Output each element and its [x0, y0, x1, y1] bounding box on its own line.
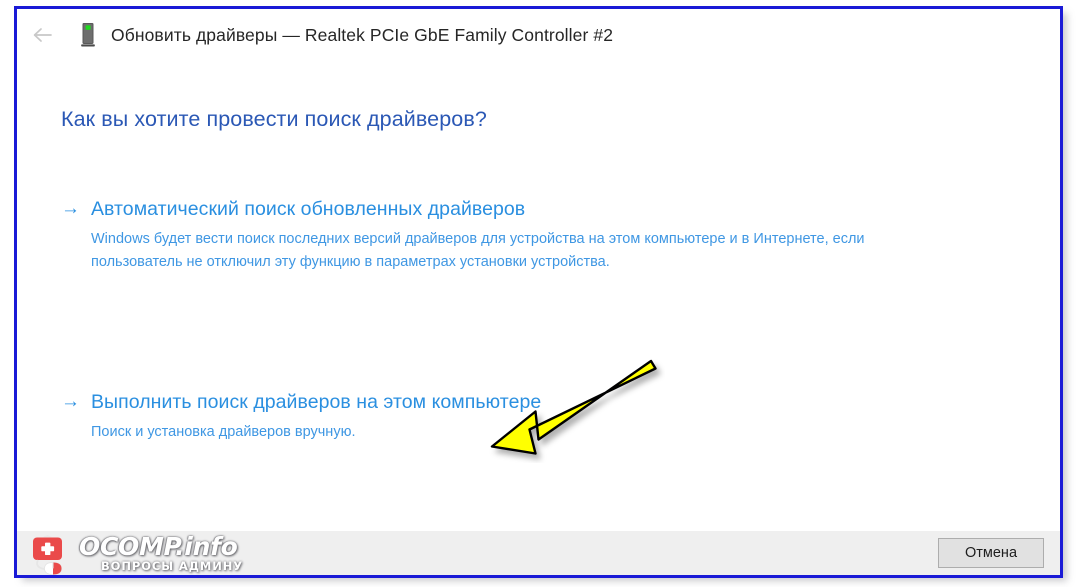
option-manual-search[interactable]: → Выполнить поиск драйверов на этом комп… [61, 391, 961, 444]
wizard-body: Как вы хотите провести поиск драйверов? … [17, 61, 1060, 531]
watermark-text: OCOMP.info ВОПРОСЫ АДМИНУ [79, 534, 243, 573]
back-arrow-icon [32, 27, 54, 43]
window-titlebar: Обновить драйверы — Realtek PCIe GbE Fam… [17, 9, 1060, 61]
site-watermark: OCOMP.info ВОПРОСЫ АДМИНУ [25, 527, 275, 579]
network-adapter-icon [75, 20, 101, 50]
first-aid-kit-mouse-logo [25, 530, 77, 576]
screenshot-canvas: Обновить драйверы — Realtek PCIe GbE Fam… [0, 0, 1081, 587]
arrow-right-icon: → [61, 199, 91, 218]
option-automatic-search-link[interactable]: → Автоматический поиск обновленных драйв… [61, 198, 961, 221]
arrow-right-icon: → [61, 392, 91, 411]
watermark-tagline: ВОПРОСЫ АДМИНУ [101, 560, 243, 573]
option-manual-search-title: Выполнить поиск драйверов на этом компью… [91, 391, 541, 414]
option-manual-search-link[interactable]: → Выполнить поиск драйверов на этом комп… [61, 391, 961, 414]
wizard-footer: OCOMP.info ВОПРОСЫ АДМИНУ Отмена [17, 531, 1060, 575]
option-automatic-search[interactable]: → Автоматический поиск обновленных драйв… [61, 198, 961, 275]
option-automatic-search-title: Автоматический поиск обновленных драйвер… [91, 198, 525, 221]
update-drivers-wizard-window: Обновить драйверы — Realtek PCIe GbE Fam… [14, 6, 1063, 578]
page-heading: Как вы хотите провести поиск драйверов? [61, 107, 487, 132]
option-manual-search-description: Поиск и установка драйверов вручную. [91, 421, 651, 444]
back-button[interactable] [21, 15, 65, 55]
cancel-button[interactable]: Отмена [938, 538, 1044, 568]
option-automatic-search-description: Windows будет вести поиск последних верс… [91, 228, 891, 275]
window-title: Обновить драйверы — Realtek PCIe GbE Fam… [111, 25, 613, 46]
watermark-brand: OCOMP.info [79, 534, 243, 559]
